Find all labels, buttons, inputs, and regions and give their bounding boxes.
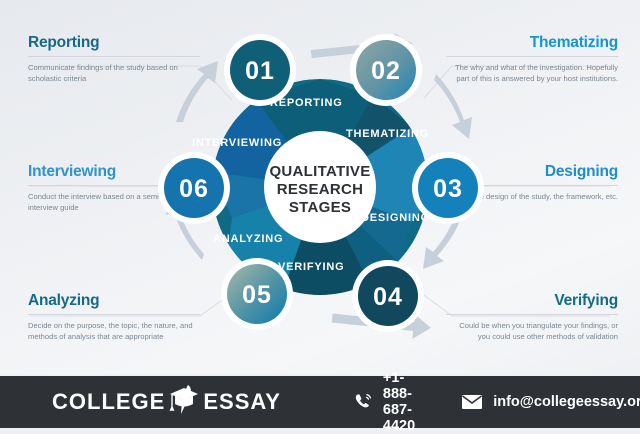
segment-label-designing: DESIGNING [361,212,430,224]
stage-node-04[interactable]: 04 [352,260,424,332]
graduation-cap-quill-icon [167,382,201,422]
center-line-3: STAGES [289,199,351,216]
stage-number-05: 05 [242,281,272,309]
stage-node-01[interactable]: 01 [224,34,296,106]
phone-contact[interactable]: +1-888-687-4420 [353,370,415,434]
logo-text-essay: ESSAY [203,389,281,415]
logo-text-college: COLLEGE [52,389,165,415]
stage-node-03[interactable]: 03 [412,152,484,224]
email-address: info@collegeessay.org [493,394,640,410]
footer-bar: COLLEGE ESSAY +1-888-687-4420 [0,374,640,428]
phone-icon [353,392,373,412]
stage-number-01: 01 [245,57,275,85]
phone-number: +1-888-687-4420 [383,370,415,434]
center-line-1: QUALITATIVE [269,163,370,180]
segment-label-analyzing: ANALYZING [213,233,283,245]
stage-number-04: 04 [373,283,403,311]
segment-label-verifying: VERIFYING [278,261,345,273]
stage-node-05[interactable]: 05 [221,258,293,330]
logo[interactable]: COLLEGE ESSAY [52,382,281,422]
stage-number-02: 02 [371,57,401,85]
segment-label-interviewing: INTERVIEWING [192,137,282,149]
cycle-wheel: QUALITATIVE RESEARCH STAGES REPORTING TH… [160,22,480,352]
center-line-2: RESEARCH [277,181,364,198]
stage-number-06: 06 [179,175,209,203]
envelope-icon [461,393,483,411]
stage-node-06[interactable]: 06 [158,152,230,224]
infographic-canvas: Reporting Communicate findings of the st… [0,0,640,428]
stage-node-02[interactable]: 02 [350,34,422,106]
segment-label-thematizing: THEMATIZING [346,128,429,140]
email-contact[interactable]: info@collegeessay.org [461,393,640,411]
stage-number-03: 03 [433,175,463,203]
